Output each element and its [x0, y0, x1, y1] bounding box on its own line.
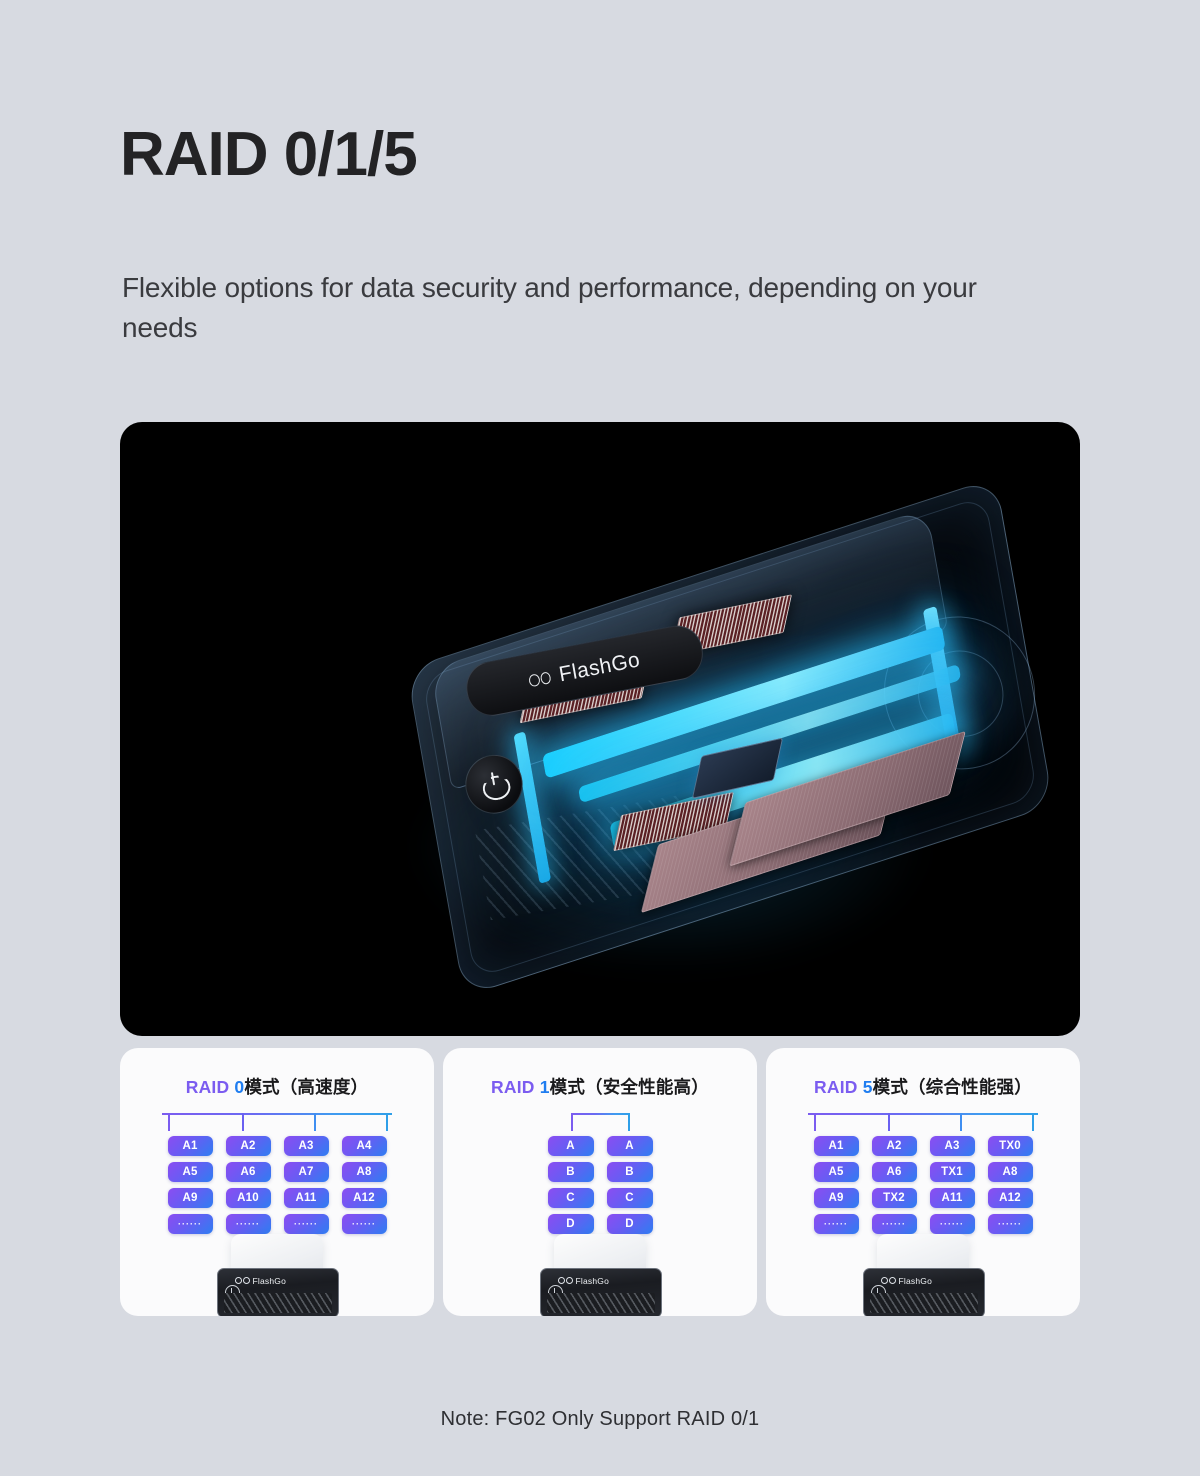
raid-block: TX0	[988, 1136, 1033, 1156]
raid-mode-card-1[interactable]: RAID 1模式（安全性能高） AABBCCDD FlashGo	[443, 1048, 757, 1316]
connector-branch-3	[960, 1113, 962, 1131]
connector-horizontal	[808, 1113, 1038, 1115]
raid-block: ······	[168, 1214, 213, 1234]
hero-stage: FlashGo	[120, 422, 1080, 1036]
raid-block: A1	[814, 1136, 859, 1156]
raid-block: A2	[226, 1136, 271, 1156]
flashgo-logo-icon	[528, 670, 552, 688]
raid-diagram-2: A1A2A3TX0A5A6TX1A8A9TX2A11A12···········…	[766, 1113, 1080, 1234]
connector-1	[571, 1113, 630, 1131]
connector-0	[162, 1113, 392, 1131]
card-device-illustration-2: FlashGo	[861, 1234, 985, 1316]
raid-block: A7	[284, 1162, 329, 1182]
device-logo: FlashGo	[558, 1274, 653, 1287]
flashgo-logo-icon	[235, 1277, 250, 1284]
flashgo-logo-icon	[558, 1277, 573, 1284]
vent-grille	[547, 1293, 655, 1313]
connector-branch-1	[814, 1113, 816, 1131]
footnote: Note: FG02 Only Support RAID 0/1	[0, 1408, 1200, 1431]
raid-block: A6	[226, 1162, 271, 1182]
raid-block: A3	[930, 1136, 975, 1156]
device-logo-text: FlashGo	[899, 1276, 933, 1286]
card-title-level: 5	[863, 1077, 873, 1097]
card-title-raid-label: RAID	[491, 1077, 535, 1097]
connector-branch-4	[1032, 1113, 1034, 1131]
hero-device-logo-text: FlashGo	[557, 648, 642, 687]
card-device-illustration-1: FlashGo	[538, 1234, 662, 1316]
raid-block: A8	[342, 1162, 387, 1182]
raid-block: A8	[988, 1162, 1033, 1182]
device-front-face: FlashGo	[863, 1268, 985, 1316]
raid-block: A1	[168, 1136, 213, 1156]
raid-block: A5	[168, 1162, 213, 1182]
device-front-face: FlashGo	[540, 1268, 662, 1316]
raid-block: A11	[284, 1188, 329, 1208]
raid-diagram-1: AABBCCDD	[443, 1113, 757, 1234]
raid-block: ······	[872, 1214, 917, 1234]
page-title: RAID 0/1/5	[120, 124, 417, 186]
connector-branch-4	[386, 1113, 388, 1131]
raid-block: ······	[342, 1214, 387, 1234]
device-logo: FlashGo	[881, 1274, 976, 1287]
raid-block-grid-2: A1A2A3TX0A5A6TX1A8A9TX2A11A12···········…	[766, 1136, 1080, 1234]
power-glyph-icon	[480, 770, 508, 798]
connector-branch-1	[571, 1113, 573, 1131]
raid-block: D	[548, 1214, 594, 1234]
card-title-0: RAID 0模式（高速度）	[120, 1074, 434, 1099]
flashgo-logo-icon	[881, 1277, 896, 1284]
raid-block: A4	[342, 1136, 387, 1156]
card-title-level: 0	[234, 1077, 244, 1097]
raid-block: A6	[872, 1162, 917, 1182]
raid-block: D	[607, 1214, 653, 1234]
raid-block: ······	[284, 1214, 329, 1234]
connector-horizontal	[571, 1113, 630, 1115]
raid-block: A	[607, 1136, 653, 1156]
card-title-level: 1	[540, 1077, 550, 1097]
raid-block: A3	[284, 1136, 329, 1156]
vent-grille	[224, 1293, 332, 1313]
card-device-illustration-0: FlashGo	[215, 1234, 339, 1316]
raid-mode-card-2[interactable]: RAID 5模式（综合性能强） A1A2A3TX0A5A6TX1A8A9TX2A…	[766, 1048, 1080, 1316]
connector-horizontal	[162, 1113, 392, 1115]
raid-block: A	[548, 1136, 594, 1156]
card-title-1: RAID 1模式（安全性能高）	[443, 1074, 757, 1099]
device-logo-text: FlashGo	[253, 1276, 287, 1286]
raid-block: C	[548, 1188, 594, 1208]
raid-mode-card-list: RAID 0模式（高速度） A1A2A3A4A5A6A7A8A9A10A11A1…	[120, 1048, 1080, 1316]
hero-product-image: FlashGo	[120, 422, 1080, 1036]
connector-2	[808, 1113, 1038, 1131]
vent-grille	[870, 1293, 978, 1313]
raid-diagram-0: A1A2A3A4A5A6A7A8A9A10A11A12·············…	[120, 1113, 434, 1234]
raid-block: TX1	[930, 1162, 975, 1182]
raid-block: A12	[342, 1188, 387, 1208]
raid-block-grid-0: A1A2A3A4A5A6A7A8A9A10A11A12·············…	[120, 1136, 434, 1234]
connector-branch-2	[888, 1113, 890, 1131]
raid-block: A9	[168, 1188, 213, 1208]
raid-block-grid-1: AABBCCDD	[443, 1136, 757, 1234]
raid-block: TX2	[872, 1188, 917, 1208]
raid-block: B	[548, 1162, 594, 1182]
page-subtitle: Flexible options for data security and p…	[122, 268, 982, 348]
connector-branch-2	[242, 1113, 244, 1131]
device-logo-text: FlashGo	[576, 1276, 610, 1286]
raid-block: A2	[872, 1136, 917, 1156]
raid-block: ······	[226, 1214, 271, 1234]
connector-branch-1	[168, 1113, 170, 1131]
raid-block: A5	[814, 1162, 859, 1182]
raid-block: B	[607, 1162, 653, 1182]
raid-block: A12	[988, 1188, 1033, 1208]
card-title-raid-label: RAID	[186, 1077, 230, 1097]
raid-block: ······	[814, 1214, 859, 1234]
raid-block: ······	[930, 1214, 975, 1234]
raid-block: A10	[226, 1188, 271, 1208]
xray-device: FlashGo	[406, 477, 1054, 997]
raid-block: C	[607, 1188, 653, 1208]
connector-branch-2	[628, 1113, 630, 1131]
raid-mode-card-0[interactable]: RAID 0模式（高速度） A1A2A3A4A5A6A7A8A9A10A11A1…	[120, 1048, 434, 1316]
card-title-description: 模式（安全性能高）	[550, 1077, 709, 1097]
raid-block: A9	[814, 1188, 859, 1208]
card-title-raid-label: RAID	[814, 1077, 858, 1097]
raid-block: A11	[930, 1188, 975, 1208]
raid-block: ······	[988, 1214, 1033, 1234]
device-logo: FlashGo	[235, 1274, 330, 1287]
connector-branch-3	[314, 1113, 316, 1131]
card-title-2: RAID 5模式（综合性能强）	[766, 1074, 1080, 1099]
card-title-description: 模式（综合性能强）	[873, 1077, 1032, 1097]
device-front-face: FlashGo	[217, 1268, 339, 1316]
card-title-description: 模式（高速度）	[244, 1077, 368, 1097]
